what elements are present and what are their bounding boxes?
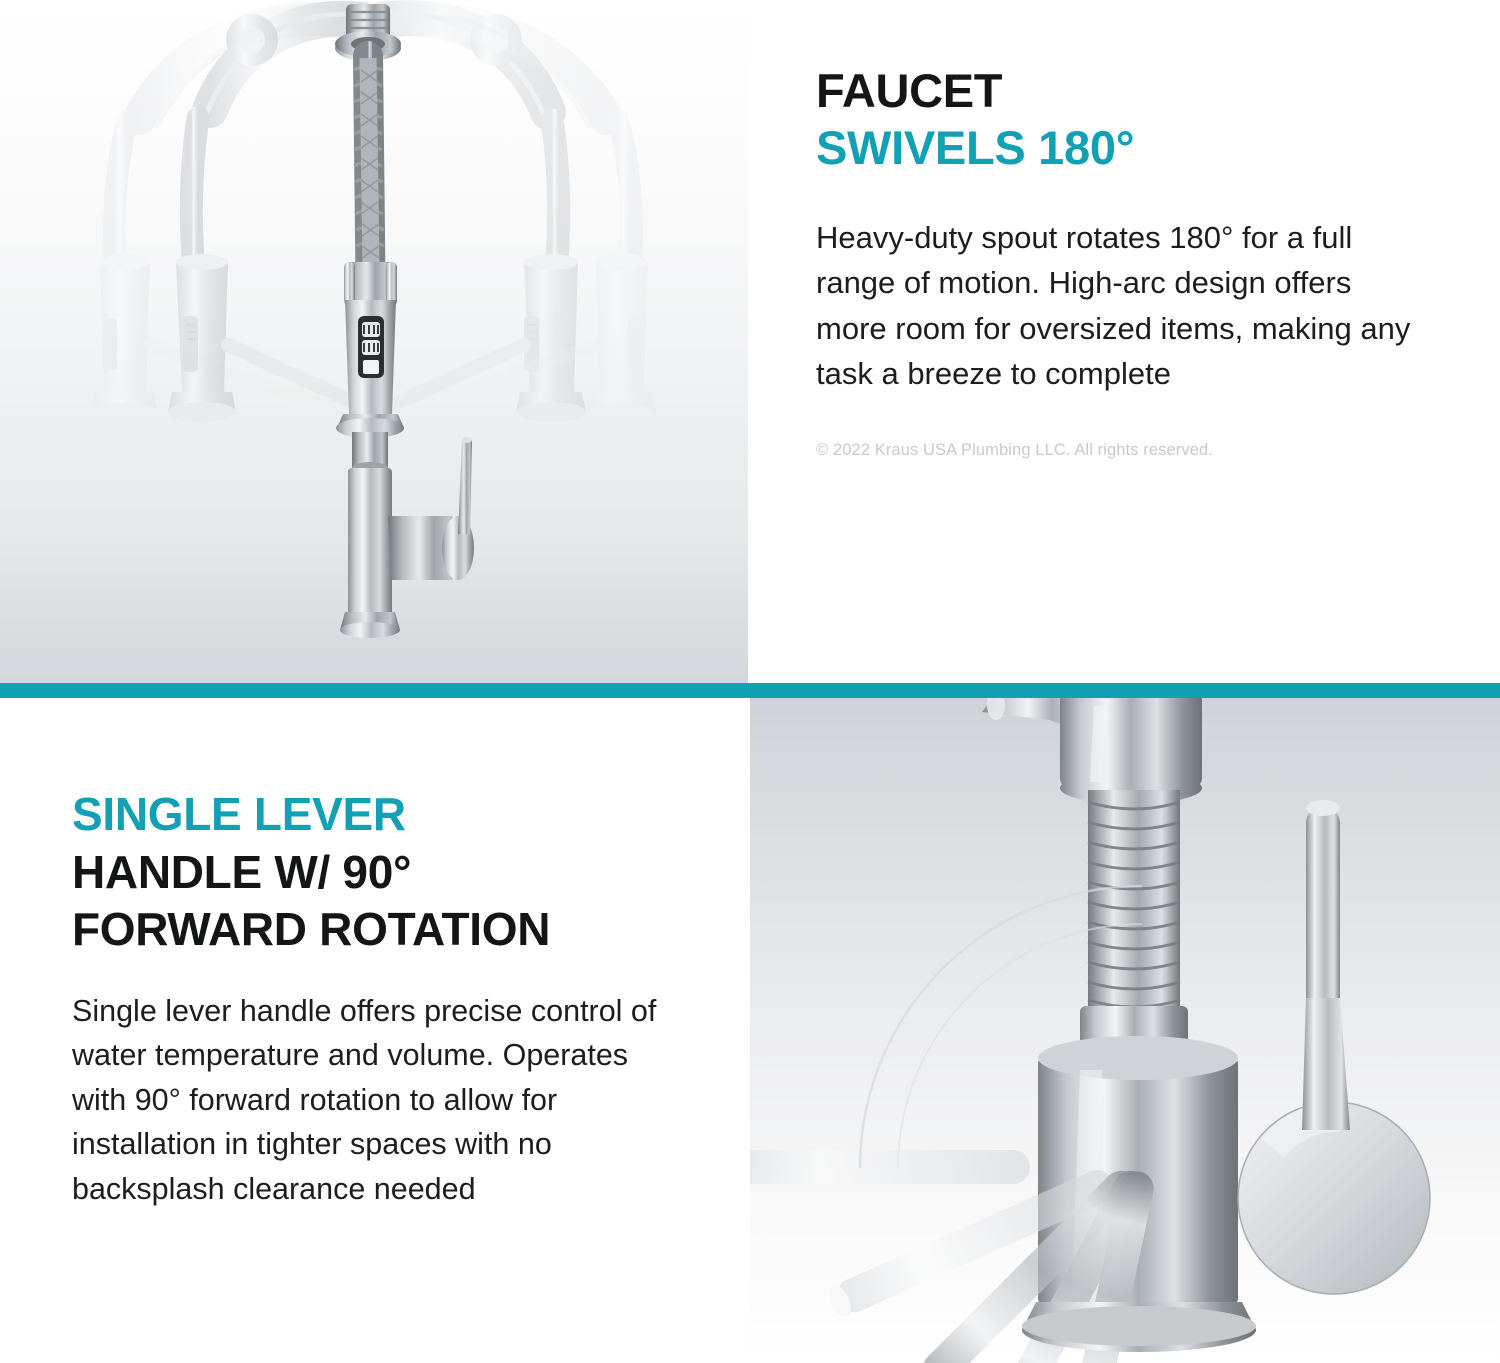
bottom-text-block: SINGLE LEVER HANDLE W/ 90° FORWARD ROTAT…	[72, 786, 692, 1211]
faucet-main-body	[335, 4, 474, 638]
lever-ghost-horizontal	[750, 1150, 1030, 1184]
single-lever-text-panel: SINGLE LEVER HANDLE W/ 90° FORWARD ROTAT…	[0, 698, 750, 1363]
bottom-headline-line1: SINGLE LEVER	[72, 786, 692, 844]
bottom-body-copy: Single lever handle offers precise contr…	[72, 989, 684, 1212]
lever-rotation-image-panel	[750, 698, 1500, 1363]
bottom-headline-line3: FORWARD ROTATION	[72, 901, 692, 959]
copyright-notice: © 2022 Kraus USA Plumbing LLC. All right…	[816, 441, 1446, 460]
faucet-swivel-text-panel: FAUCET SWIVELS 180° Heavy-duty spout rot…	[748, 0, 1500, 683]
infographic-page: FAUCET SWIVELS 180° Heavy-duty spout rot…	[0, 0, 1500, 1363]
bottom-headline-line2: HANDLE W/ 90°	[72, 844, 692, 902]
top-headline-line2: SWIVELS 180°	[816, 119, 1446, 176]
teal-divider	[0, 683, 1500, 698]
top-body-copy: Heavy-duty spout rotates 180° for a full…	[816, 215, 1416, 397]
lever-rotation-illustration	[750, 698, 1500, 1363]
faucet-swivel-image-panel	[0, 0, 748, 683]
lever-handle-active	[1238, 800, 1430, 1294]
faucet-swivel-illustration	[0, 0, 748, 683]
top-headline-line1: FAUCET	[816, 62, 1446, 119]
top-text-block: FAUCET SWIVELS 180° Heavy-duty spout rot…	[816, 62, 1446, 460]
